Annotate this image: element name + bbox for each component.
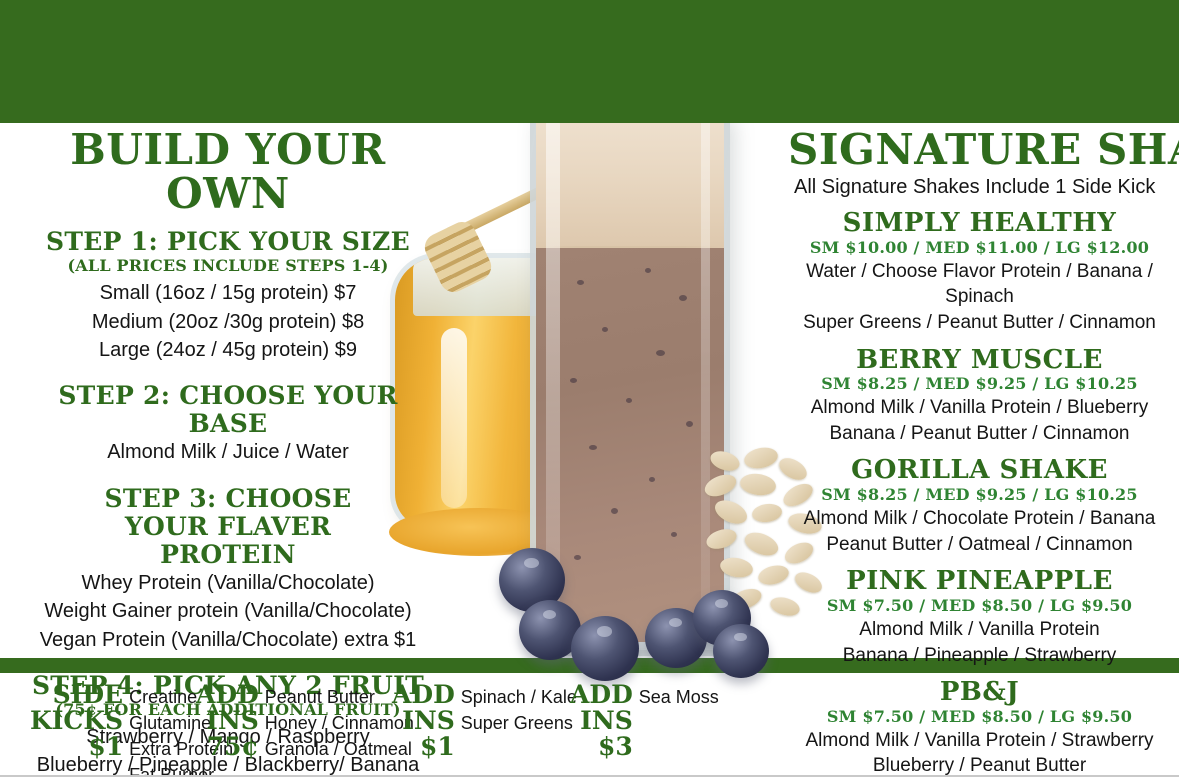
- shake-ingredients: Blueberry / Peanut Butter: [780, 753, 1179, 777]
- step-2: STEP 2: CHOOSE YOUR BASE Almond Milk / J…: [18, 382, 438, 466]
- addon-label-line1: ADD: [570, 682, 633, 708]
- step-2-option: Almond Milk / Juice / Water: [18, 438, 438, 466]
- addon-item: Sea Moss: [639, 684, 719, 710]
- step-1: STEP 1: PICK YOUR SIZE (ALL PRICES INCLU…: [18, 228, 438, 364]
- signature-shakes-heading: SIGNATURE SHAKES: [788, 128, 1179, 172]
- glass-base: [530, 578, 730, 656]
- step-1-subtitle: (ALL PRICES INCLUDE STEPS 1-4): [18, 256, 438, 275]
- shake-ingredients: Almond Milk / Vanilla Protein: [780, 617, 1179, 643]
- addon-label-price: $1: [392, 734, 455, 760]
- menu-board: PROTEIN SHAKES: [0, 0, 1179, 777]
- addon-item: Super Greens: [461, 710, 577, 736]
- addon-label-line2: INS: [392, 708, 455, 734]
- shake-ingredients: Peanut Butter / Oatmeal / Cinnamon: [780, 532, 1179, 558]
- step-1-option: Medium (20oz /30g protein) $8: [18, 308, 438, 336]
- addon-label-price: 75¢: [196, 734, 259, 760]
- shake-price: SM $8.25 / MED $9.25 / LG $10.25: [780, 374, 1179, 393]
- addon-label: SIDE KICKS $1: [30, 682, 123, 760]
- shake-name: PINK PINEAPPLE: [780, 567, 1179, 596]
- blueberry: [499, 548, 565, 612]
- shake-item: PINK PINEAPPLE SM $7.50 / MED $8.50 / LG…: [780, 567, 1179, 668]
- addon-label-line2: KICKS: [30, 708, 123, 734]
- shake-name: PB&J: [780, 678, 1179, 707]
- glass-highlight-left: [546, 118, 560, 627]
- blueberry: [693, 590, 751, 646]
- step-3-option: Vegan Protein (Vanilla/Chocolate) extra …: [18, 626, 438, 654]
- shake-ingredients: Water / Choose Flavor Protein / Banana /…: [780, 259, 1179, 310]
- shake-name: GORILLA SHAKE: [780, 456, 1179, 485]
- shake-item: PB&J SM $7.50 / MED $8.50 / LG $9.50 Alm…: [780, 678, 1179, 777]
- shake-price: SM $7.50 / MED $8.50 / LG $9.50: [780, 707, 1179, 726]
- shake-price: SM $7.50 / MED $8.50 / LG $9.50: [780, 596, 1179, 615]
- addon-label-line2: INS: [570, 708, 633, 734]
- step-1-option: Small (16oz / 15g protein) $7: [18, 279, 438, 307]
- shake-name: SIMPLY HEALTHY: [780, 209, 1179, 238]
- shake-item: BERRY MUSCLE SM $8.25 / MED $9.25 / LG $…: [780, 346, 1179, 447]
- step-2-title: STEP 2: CHOOSE YOUR BASE: [18, 382, 438, 438]
- addon-label-line1: ADD: [392, 682, 455, 708]
- step-1-title: STEP 1: PICK YOUR SIZE: [18, 228, 438, 256]
- jar-highlight: [441, 328, 467, 508]
- hero-photo: [395, 108, 795, 678]
- shake-price: SM $8.25 / MED $9.25 / LG $10.25: [780, 485, 1179, 504]
- shake-ingredients: Banana / Pineapple / Strawberry: [780, 643, 1179, 669]
- signature-shakes-note: All Signature Shakes Include 1 Side Kick: [794, 176, 1179, 199]
- addon-group-3-dollar: ADD INS $3 Sea Moss: [570, 682, 719, 760]
- addon-item: Fat Burner: [129, 762, 233, 777]
- addon-items: Sea Moss: [639, 682, 719, 710]
- addon-items: Spinach / Kale Super Greens: [461, 682, 577, 736]
- addon-label: ADD INS $3: [570, 682, 633, 760]
- smoothie-liquid: [536, 248, 724, 642]
- addon-label-line1: ADD: [196, 682, 259, 708]
- step-3-option: Whey Protein (Vanilla/Chocolate): [18, 569, 438, 597]
- addon-label: ADD INS $1: [392, 682, 455, 760]
- signature-shakes-section: SIGNATURE SHAKES All Signature Shakes In…: [780, 128, 1179, 777]
- glass-highlight-right: [701, 118, 710, 616]
- addon-label: ADD INS 75¢: [196, 682, 259, 760]
- addon-group-75c: ADD INS 75¢ Peanut Butter Honey / Cinnam…: [196, 682, 414, 762]
- step-3: STEP 3: CHOOSE YOUR FLAVER PROTEIN Whey …: [18, 485, 438, 654]
- blueberry: [519, 600, 581, 660]
- smoothie-foam: [536, 112, 724, 254]
- step-3-title: STEP 3: CHOOSE YOUR FLAVER PROTEIN: [63, 485, 393, 569]
- jar-shadow: [541, 298, 575, 528]
- shake-ingredients: Almond Milk / Chocolate Protein / Banana: [780, 506, 1179, 532]
- addon-group-1-dollar: ADD INS $1 Spinach / Kale Super Greens: [392, 682, 577, 760]
- shake-ingredients: Almond Milk / Vanilla Protein / Strawber…: [780, 728, 1179, 754]
- shake-ingredients: Banana / Peanut Butter / Cinnamon: [780, 421, 1179, 447]
- step-1-option: Large (24oz / 45g protein) $9: [18, 336, 438, 364]
- addon-label-line1: SIDE: [30, 682, 123, 708]
- addons-section: SIDE KICKS $1 Creatine Glutamine Extra P…: [0, 676, 800, 776]
- shake-ingredients: Almond Milk / Vanilla Protein / Blueberr…: [780, 395, 1179, 421]
- addon-label-line2: INS: [196, 708, 259, 734]
- build-your-own-heading: BUILD YOUR OWN: [18, 128, 438, 216]
- shake-item: SIMPLY HEALTHY SM $10.00 / MED $11.00 / …: [780, 209, 1179, 336]
- addon-item: Spinach / Kale: [461, 684, 577, 710]
- shake-name: BERRY MUSCLE: [780, 346, 1179, 375]
- addon-label-price: $3: [570, 734, 633, 760]
- addon-label-price: $1: [30, 734, 123, 760]
- honey-dipper-stick: [461, 167, 584, 235]
- header-bar: [0, 0, 1179, 123]
- shake-ingredients: Super Greens / Peanut Butter / Cinnamon: [780, 310, 1179, 336]
- shake-price: SM $10.00 / MED $11.00 / LG $12.00: [780, 238, 1179, 257]
- smoothie-glass-image: [530, 108, 730, 648]
- step-3-option: Weight Gainer protein (Vanilla/Chocolate…: [18, 597, 438, 625]
- shake-item: GORILLA SHAKE SM $8.25 / MED $9.25 / LG …: [780, 456, 1179, 557]
